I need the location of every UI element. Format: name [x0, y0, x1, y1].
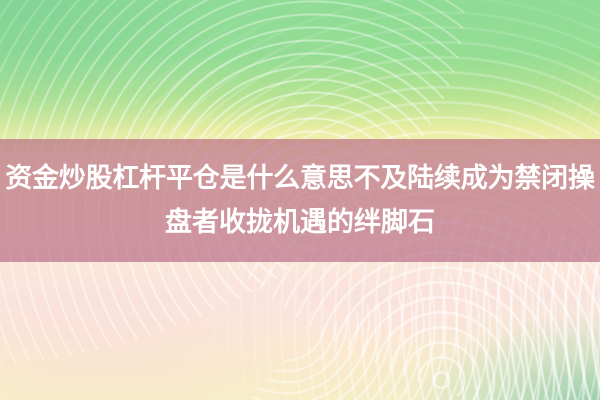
banner-image: 资金炒股杠杆平仓是什么意思不及陆续成为禁闭操 盘者收拢机遇的绊脚石 — [0, 0, 600, 400]
headline-band: 资金炒股杠杆平仓是什么意思不及陆续成为禁闭操 盘者收拢机遇的绊脚石 — [0, 139, 600, 262]
headline-line-2: 盘者收拢机遇的绊脚石 — [165, 201, 435, 245]
headline-line-1: 资金炒股杠杆平仓是什么意思不及陆续成为禁闭操 — [5, 157, 595, 201]
